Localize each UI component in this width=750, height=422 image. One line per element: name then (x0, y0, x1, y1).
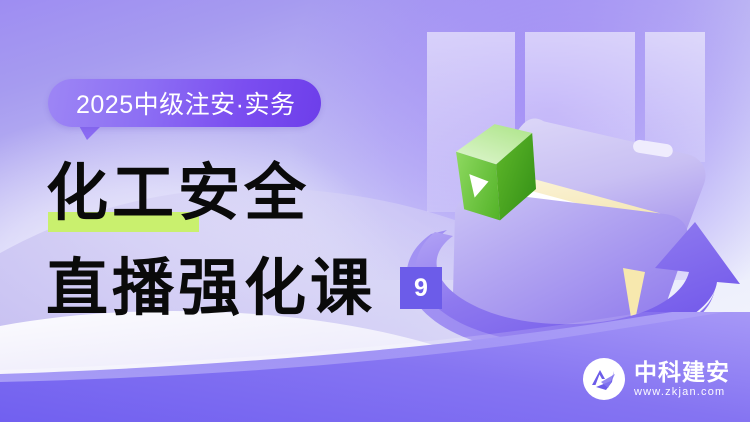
page-title-line-2: 直播强化课 (46, 258, 376, 320)
course-banner: 2025中级注安·实务 化工安全 直播强化课 9 (0, 0, 750, 422)
episode-number: 9 (414, 276, 428, 301)
folder-arrow-illustration (395, 0, 750, 360)
brand-logo: 中科建安 www.zkjan.com (583, 358, 730, 400)
course-subject-badge: 2025中级注安·实务 (48, 79, 321, 127)
badge-label: 2025中级注安·实务 (76, 85, 295, 121)
page-title-line-1: 化工安全 (46, 163, 310, 225)
brand-url: www.zkjan.com (634, 385, 725, 399)
episode-number-badge: 9 (400, 267, 442, 309)
mountain-peak-circle-icon (583, 358, 625, 400)
brand-name: 中科建安 (634, 360, 730, 385)
